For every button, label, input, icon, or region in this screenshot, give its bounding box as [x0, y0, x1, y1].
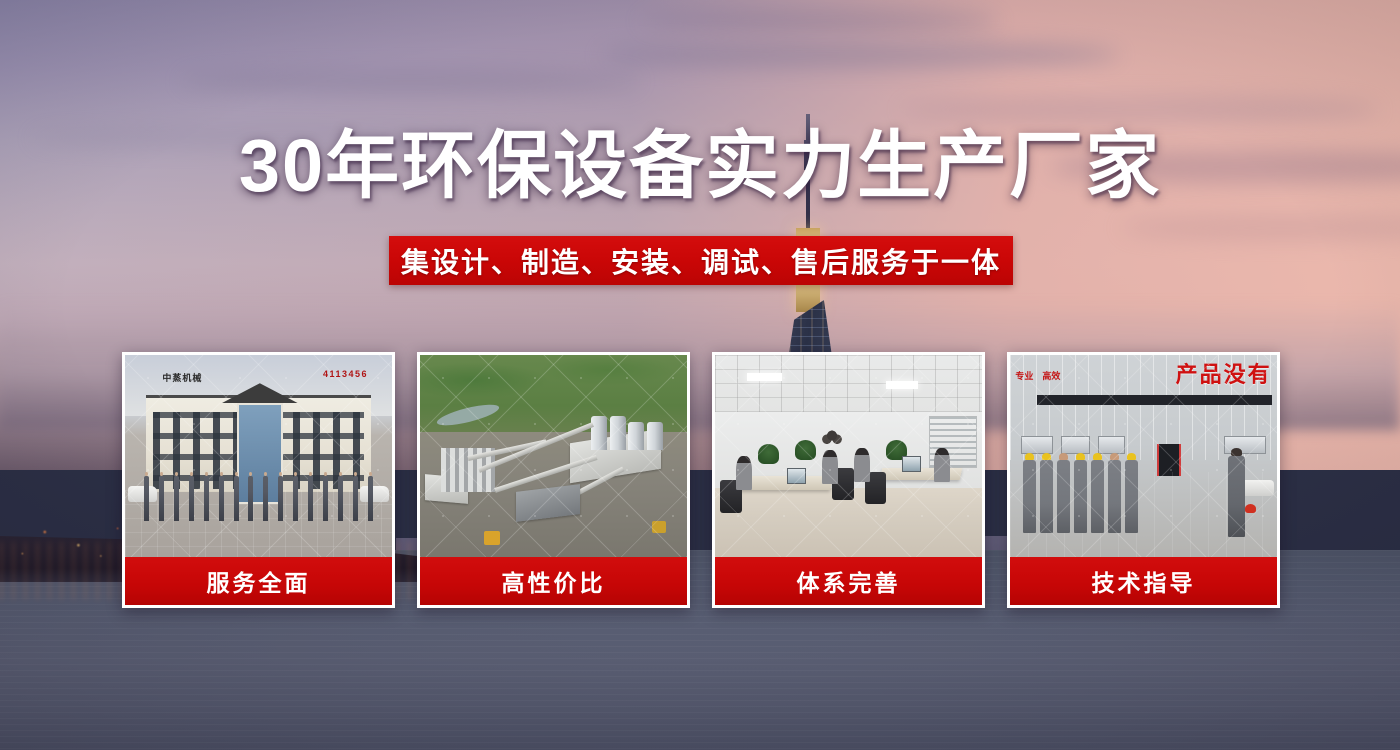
factory-slogan-1: 专业 [1015, 371, 1033, 382]
red-helmet-icon [1245, 504, 1256, 513]
factory-slogan-2: 高效 [1042, 371, 1060, 382]
feature-card[interactable]: 体系完善 [712, 352, 985, 608]
subtitle-banner: 集设计、制造、安装、调试、售后服务于一体 [389, 236, 1013, 285]
card-photo-office-interior [715, 355, 982, 557]
factory-headline-text: 产品没有 [1144, 359, 1272, 387]
worker-lineup [1023, 460, 1162, 533]
card-photo-workers-briefing: 产品没有 专业 高效 [1010, 355, 1277, 557]
card-photo-headquarters: 中蒸机械 4113456 [125, 355, 392, 557]
feature-card[interactable]: 中蒸机械 4113456 服务全面 [122, 352, 395, 608]
hero-banner: 30年环保设备实力生产厂家 集设计、制造、安装、调试、售后服务于一体 中蒸机械 … [0, 0, 1400, 750]
building-sign-text: 中蒸机械 [162, 369, 258, 385]
building-phone-number: 4113456 [323, 369, 368, 379]
card-label: 体系完善 [715, 557, 982, 605]
page-title: 30年环保设备实力生产厂家 [0, 126, 1400, 206]
card-label: 高性价比 [420, 557, 687, 605]
card-photo-industrial-plant [420, 355, 687, 557]
feature-card-row: 中蒸机械 4113456 服务全面 [122, 352, 1280, 608]
card-label: 服务全面 [125, 557, 392, 605]
supervisor-figure [1228, 456, 1245, 537]
feature-card[interactable]: 产品没有 专业 高效 [1007, 352, 1280, 608]
staff-lineup [144, 476, 374, 520]
card-label: 技术指导 [1010, 557, 1277, 605]
feature-card[interactable]: 高性价比 [417, 352, 690, 608]
subtitle-text: 集设计、制造、安装、调试、售后服务于一体 [401, 241, 1001, 281]
